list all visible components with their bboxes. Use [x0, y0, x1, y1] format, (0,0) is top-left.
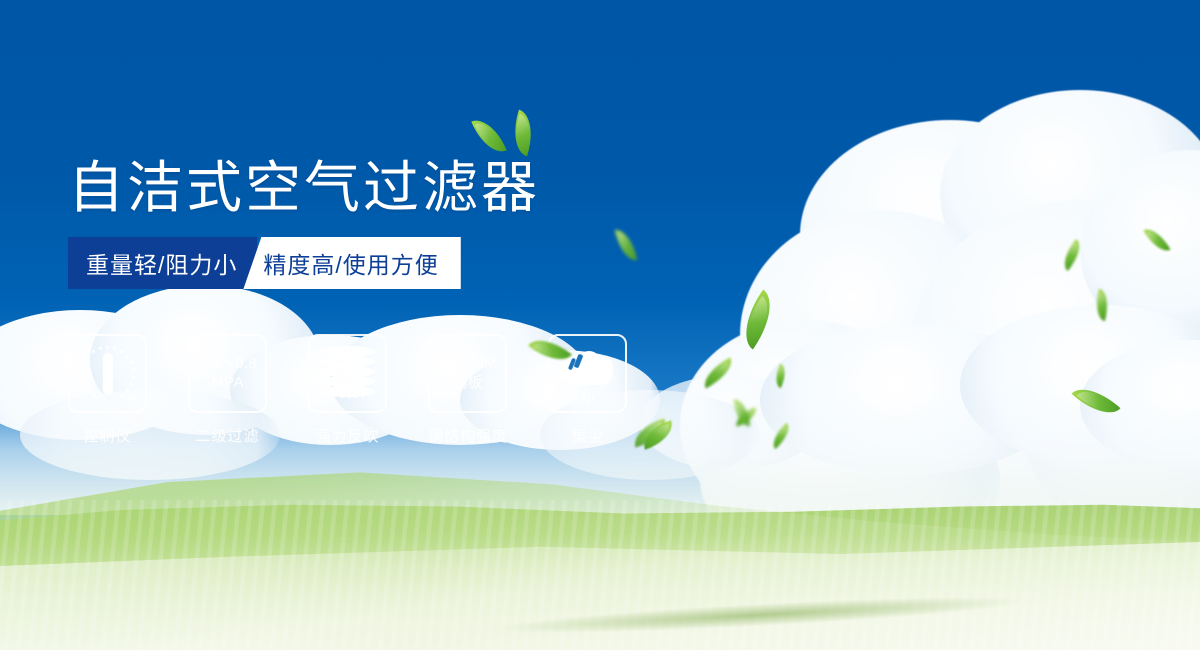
- pressure-range: 0.6～0.8: [198, 355, 257, 373]
- feature-icon-box: [308, 334, 387, 413]
- feature-icon-box: Air: [548, 334, 627, 413]
- feature-item-pulse-blowback[interactable]: 强力反吹: [308, 334, 387, 446]
- page-title: 自洁式空气过滤器: [68, 143, 540, 224]
- feature-icon-box: 3～8MM 钢板: [428, 334, 507, 413]
- feature-item-steel-strength[interactable]: 3～8MM 钢板 钢结构强度: [428, 334, 507, 446]
- gauge-icon: NO OFF: [77, 343, 139, 405]
- feature-label: 钢结构强度: [428, 425, 507, 446]
- feature-icon-box: NO OFF: [68, 334, 147, 413]
- feature-label: 控制仪: [68, 425, 147, 446]
- steel-thickness: 3～8MM: [438, 355, 496, 373]
- steel-material: 钢板: [438, 374, 496, 392]
- pressure-unit: MPA: [198, 374, 257, 392]
- tag-secondary: 精度高/使用方便: [243, 237, 460, 289]
- pressure-text-icon: 0.6～0.8 MPA: [198, 355, 257, 392]
- gauge-lever: [103, 353, 113, 395]
- gauge-off-label: OFF: [122, 395, 138, 402]
- product-banner: 自洁式空气过滤器 重量轻/阻力小 精度高/使用方便: [0, 0, 1200, 650]
- feature-list: NO OFF 控制仪 0.6～0.8 MPA 二级过滤: [68, 334, 627, 446]
- feature-label: 二级过滤: [188, 425, 267, 446]
- feature-item-dust-collection[interactable]: Air 集尘: [548, 334, 627, 446]
- gauge-on-label: NO: [76, 370, 88, 377]
- cloud-air-label: Air: [557, 390, 619, 405]
- feature-icon-box: 0.6～0.8 MPA: [188, 334, 267, 413]
- feature-label: 强力反吹: [308, 425, 387, 446]
- feature-label: 集尘: [548, 425, 627, 446]
- feature-item-control-meter[interactable]: NO OFF 控制仪: [68, 334, 147, 446]
- feature-item-two-stage-filter[interactable]: 0.6～0.8 MPA 二级过滤: [188, 334, 267, 446]
- filter-stack-icon: [321, 346, 375, 402]
- subtitle-tag-bar: 重量轻/阻力小 精度高/使用方便: [68, 237, 461, 289]
- steel-text-icon: 3～8MM 钢板: [438, 355, 496, 392]
- tag-primary: 重量轻/阻力小: [68, 237, 257, 289]
